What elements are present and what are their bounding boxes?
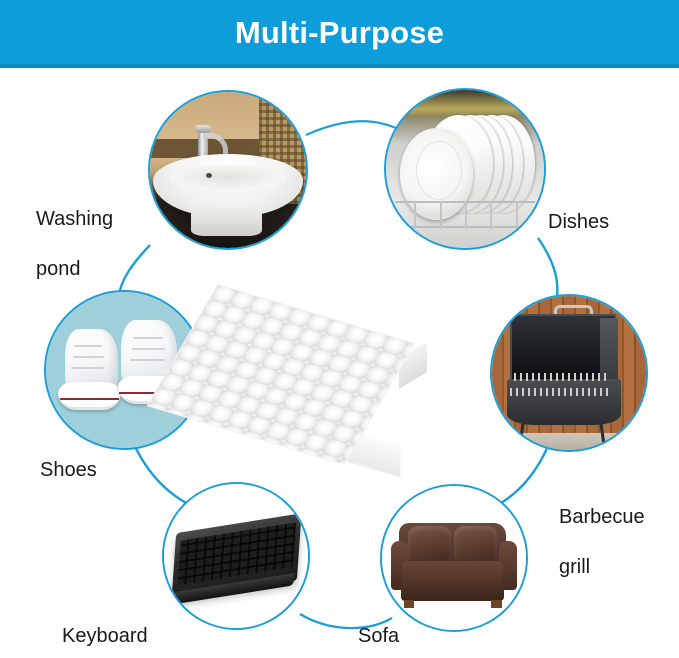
shoe-left-sole	[58, 382, 120, 410]
grill-grate-upper	[514, 373, 609, 381]
grill-leg-group	[514, 422, 616, 447]
header-banner: Multi-Purpose	[0, 0, 679, 64]
rack-wire-5	[516, 201, 518, 229]
rack-wire-2	[440, 201, 442, 229]
grill-leg-right	[599, 422, 605, 447]
sink-pedestal	[191, 207, 263, 235]
grill-firebox	[507, 379, 621, 425]
label-shoes: Shoes	[40, 458, 160, 483]
dishes-image	[386, 90, 544, 248]
label-dishes: Dishes	[548, 210, 668, 235]
page-title: Multi-Purpose	[235, 17, 444, 48]
label-barbecue-grill: Barbecue grill	[559, 480, 679, 605]
rack-wire-1	[414, 201, 416, 229]
rack-wire-3	[465, 201, 467, 229]
sofa-foot-left	[404, 600, 414, 609]
label-sofa: Sofa	[358, 624, 478, 649]
rack-wire-4	[490, 201, 492, 229]
label-barbecue-grill-line2: grill	[559, 555, 679, 580]
sofa-back-cushion-right	[454, 526, 497, 561]
label-washing-pond-line2: pond	[36, 257, 166, 282]
keyboard-image	[164, 484, 308, 628]
node-barbecue-grill[interactable]	[490, 294, 648, 452]
sofa-back-cushion-left	[408, 526, 451, 561]
label-keyboard: Keyboard	[62, 624, 222, 649]
plate-front	[400, 128, 473, 220]
label-barbecue-grill-line1: Barbecue	[559, 505, 679, 530]
shoe-right-lace-2	[132, 348, 165, 350]
infographic-page: Multi-Purpose Washing pond	[0, 0, 679, 658]
label-washing-pond: Washing pond	[36, 182, 166, 307]
shoe-right-lace-3	[130, 359, 164, 361]
washing-pond-image	[150, 92, 306, 248]
product-card	[214, 281, 426, 465]
grill-grate-lower	[510, 388, 612, 396]
node-dishes[interactable]	[384, 88, 546, 250]
plate-rim-ring	[416, 141, 462, 200]
banner-underline	[0, 64, 679, 68]
label-washing-pond-line1: Washing	[36, 207, 166, 232]
grill-leg-left	[518, 422, 524, 447]
node-sofa[interactable]	[380, 484, 528, 632]
sofa-foot-right	[491, 600, 501, 609]
sofa-seat-cushions	[402, 561, 503, 587]
keyboard-body	[171, 514, 301, 602]
barbecue-grill-image	[492, 296, 646, 450]
background-countertop	[386, 90, 544, 117]
shoe-left-lace-2	[73, 356, 104, 358]
node-keyboard[interactable]	[162, 482, 310, 630]
shoe-left-lace-1	[74, 345, 102, 347]
faucet-handle	[195, 125, 211, 133]
center-product[interactable]	[214, 281, 426, 465]
sofa-base-skirt	[401, 584, 505, 601]
node-washing-pond[interactable]	[148, 90, 308, 250]
shoe-left-stripe	[60, 398, 119, 400]
shoe-right-lace-1	[133, 337, 163, 339]
sofa-image	[382, 486, 526, 630]
shoe-left-lace-3	[71, 367, 104, 369]
